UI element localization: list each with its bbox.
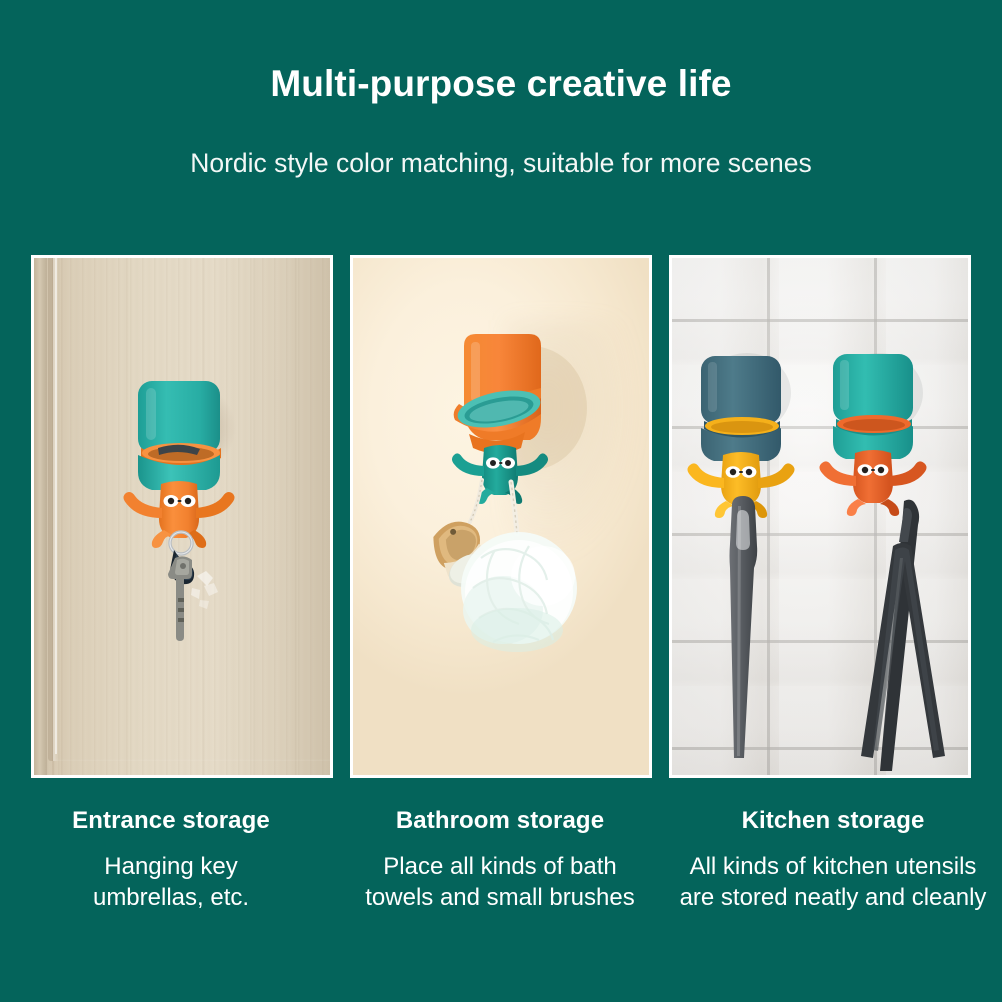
photo-panel-entrance: [31, 255, 333, 778]
hook-left: [688, 353, 795, 758]
caption-entrance: Entrance storage Hanging key umbrellas, …: [4, 806, 338, 946]
caption-body: All kinds of kitchen utensils are stored…: [666, 851, 1000, 913]
caption-title: Kitchen storage: [666, 806, 1000, 836]
photo-panel-kitchen: [669, 255, 971, 778]
caption-body: Place all kinds of bath towels and small…: [333, 851, 667, 913]
scene-cream-wall: [353, 258, 649, 775]
octopus-hook-teal-product: [34, 258, 330, 775]
octopus-hook-pair-product: [672, 258, 968, 775]
caption-title: Entrance storage: [4, 806, 338, 836]
photo-panel-row: [31, 255, 971, 778]
caption-body: Hanging key umbrellas, etc.: [4, 851, 338, 913]
scene-wooden-door: [34, 258, 330, 775]
caption-kitchen: Kitchen storage All kinds of kitchen ute…: [666, 806, 1000, 946]
photo-panel-bathroom: [350, 255, 652, 778]
hook-right: [820, 353, 946, 771]
octopus-hook-orange-product: [353, 258, 649, 775]
page-subtitle: Nordic style color matching, suitable fo…: [0, 146, 1002, 180]
caption-title: Bathroom storage: [333, 806, 667, 836]
caption-bathroom: Bathroom storage Place all kinds of bath…: [333, 806, 667, 946]
caption-row: Entrance storage Hanging key umbrellas, …: [0, 806, 1002, 946]
product-feature-graphic: Multi-purpose creative life Nordic style…: [0, 0, 1002, 1002]
scene-tile-wall: [672, 258, 968, 775]
page-title: Multi-purpose creative life: [0, 62, 1002, 106]
